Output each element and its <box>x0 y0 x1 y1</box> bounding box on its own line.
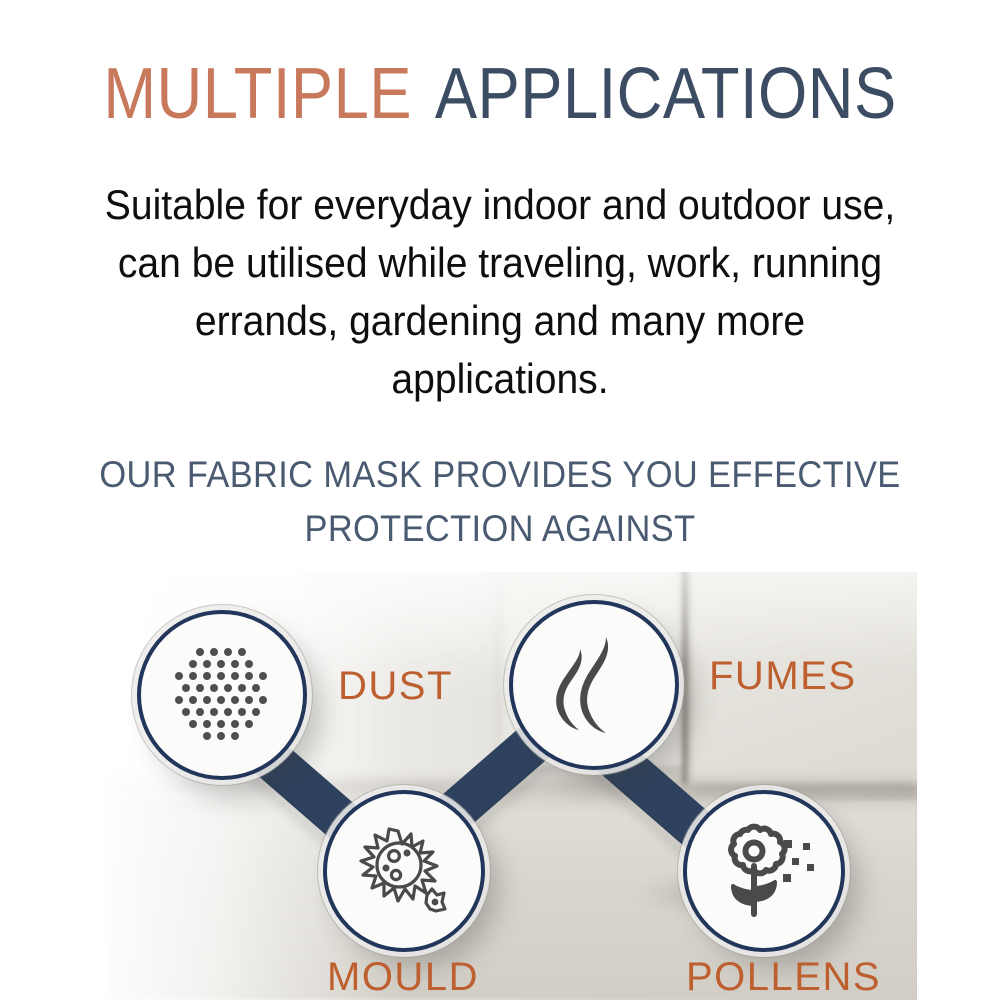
node-label-fumes: FUMES <box>709 654 857 699</box>
body-paragraph: Suitable for everyday indoor and outdoor… <box>82 176 919 408</box>
node-pollens[interactable] <box>683 790 845 952</box>
page-title-word-1: MULTIPLE <box>103 54 412 134</box>
node-dust[interactable] <box>137 610 307 780</box>
poster-root: MULTIPLEAPPLICATIONS Suitable for everyd… <box>0 0 1000 1000</box>
sub-heading-line-2: PROTECTION AGAINST <box>72 502 928 556</box>
node-label-mould: MOULD <box>327 955 479 1000</box>
page-title-word-2: APPLICATIONS <box>435 54 897 134</box>
sub-heading: OUR FABRIC MASK PROVIDES YOU EFFECTIVE P… <box>72 448 928 556</box>
diagram-photo-panel: DUST FUMES <box>105 572 917 1000</box>
sub-heading-line-1: OUR FABRIC MASK PROVIDES YOU EFFECTIVE <box>72 448 928 502</box>
smoke-waves-icon <box>550 633 638 737</box>
node-fumes[interactable] <box>509 600 679 770</box>
node-label-pollens: POLLENS <box>686 955 881 1000</box>
node-label-dust: DUST <box>338 664 453 709</box>
node-mould[interactable] <box>323 790 485 952</box>
flower-pollen-icon <box>712 822 816 920</box>
page-title: MULTIPLEAPPLICATIONS <box>60 58 940 130</box>
dust-dots-icon <box>169 642 275 748</box>
microbe-spore-icon <box>353 823 455 919</box>
